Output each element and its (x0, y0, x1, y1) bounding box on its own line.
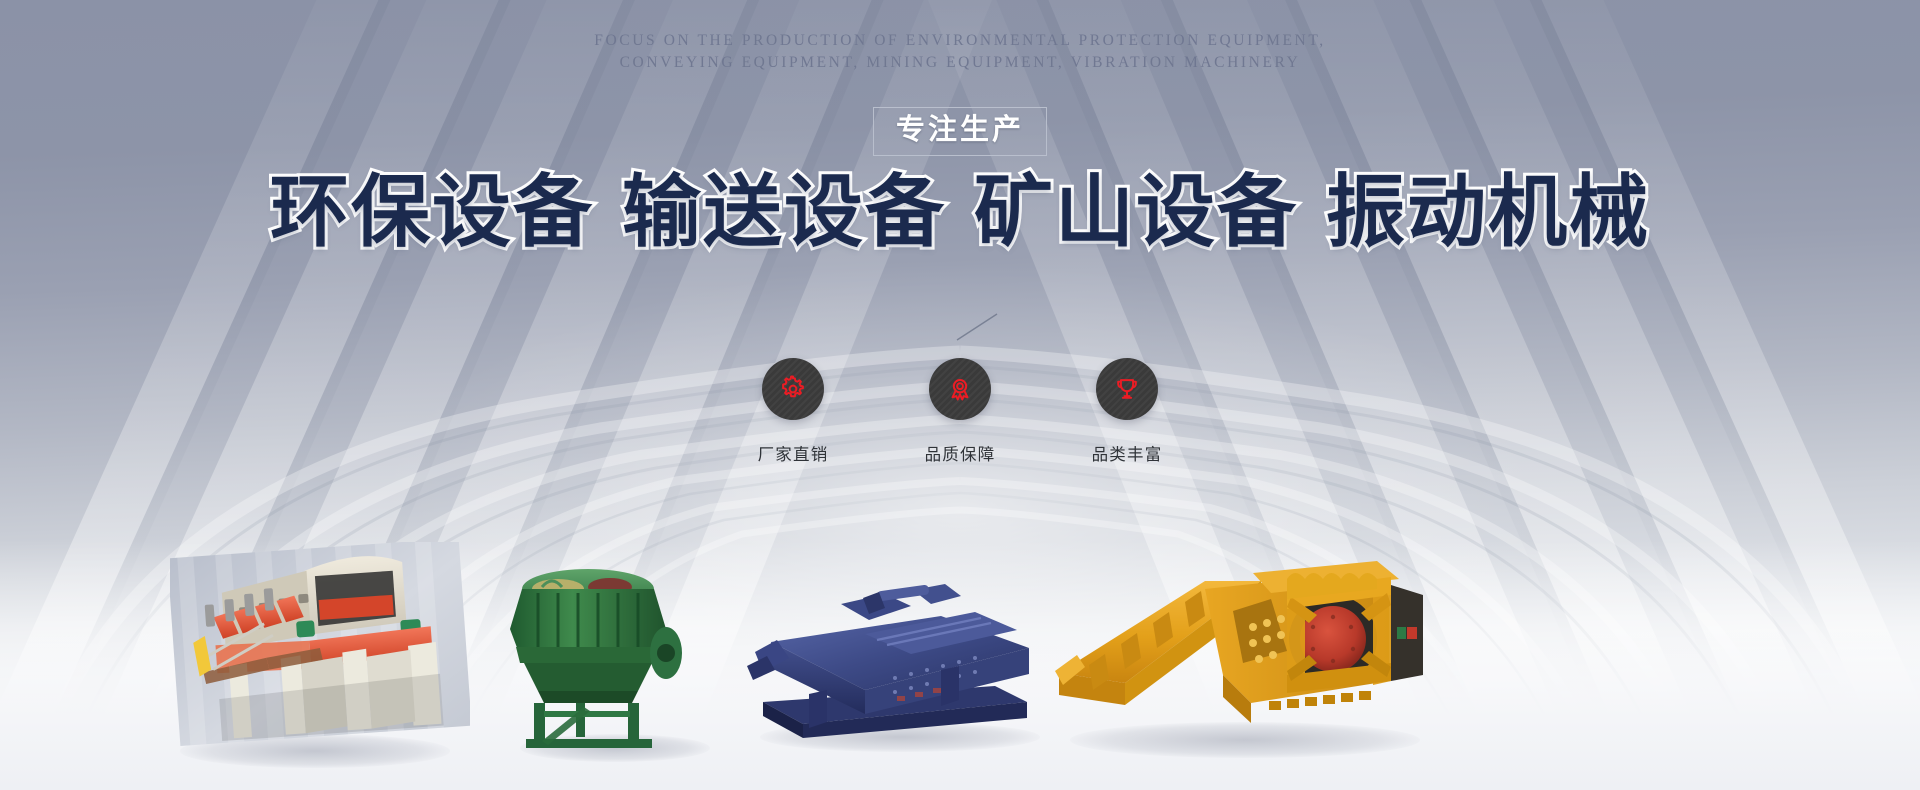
medal-icon (929, 358, 991, 420)
eyebrow-tagline: FOCUS ON THE PRODUCTION OF ENVIRONMENTAL… (0, 30, 1920, 74)
machine-gallery (0, 460, 1920, 790)
diagonal-tick-decoration (955, 312, 1001, 342)
feature-item-rich-categories[interactable]: 品类丰富 (1066, 358, 1189, 465)
trophy-icon (1096, 358, 1158, 420)
green-feeder-machine-photo (480, 555, 695, 750)
eyebrow-line-2: CONVEYING EQUIPMENT, MINING EQUIPMENT, V… (620, 54, 1301, 71)
gear-icon (762, 358, 824, 420)
hero-banner: FOCUS ON THE PRODUCTION OF ENVIRONMENTAL… (0, 0, 1920, 790)
conveyor-equipment-photo (170, 542, 470, 757)
headline-part-4: 振动机械 (1326, 167, 1650, 256)
page-title: 环保设备输送设备矿山设备振动机械 (0, 168, 1920, 256)
headline-part-2: 输送设备 (622, 167, 946, 256)
focus-production-badge: 专注生产 (873, 107, 1047, 156)
headline-part-3: 矿山设备 (974, 167, 1298, 256)
feature-item-quality-guarantee[interactable]: 品质保障 (899, 358, 1022, 465)
feature-list: 厂家直销 品质保障 (0, 358, 1920, 465)
eyebrow-line-1: FOCUS ON THE PRODUCTION OF ENVIRONMENTAL… (594, 32, 1325, 49)
yellow-jaw-crusher-photo (1055, 555, 1425, 745)
headline-part-1: 环保设备 (270, 167, 594, 256)
blue-vibrating-screen-photo (745, 582, 1035, 742)
feature-item-factory-direct[interactable]: 厂家直销 (732, 358, 855, 465)
